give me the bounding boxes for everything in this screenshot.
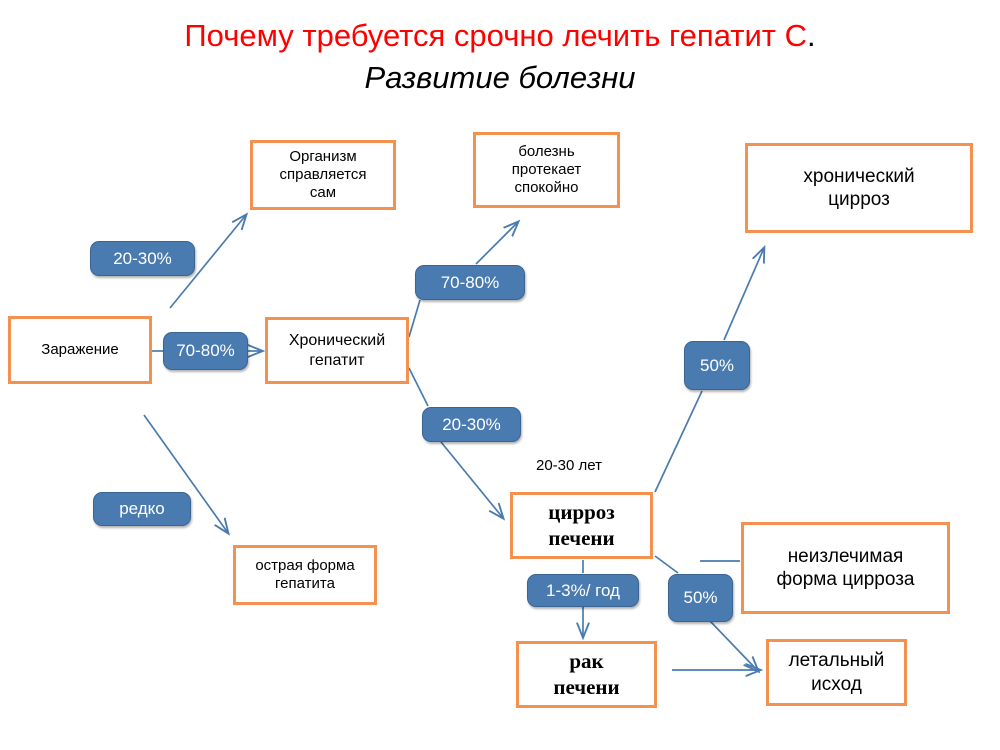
pill-20-30-percent-self-clear[interactable]: 20-30% (90, 241, 195, 276)
edge-liver-cirrhosis-to-pill-50 (655, 391, 702, 492)
node-acute-hepatitis-form-line-0: острая форма (236, 557, 374, 575)
node-chronic-hepatitis[interactable]: Хронический гепатит (265, 317, 409, 384)
node-self-clear[interactable]: Организм справляется сам (250, 140, 396, 210)
pill-1-3-percent-per-year[interactable]: 1-3%/ год (527, 574, 639, 607)
node-infection-line-0: Заражение (11, 341, 149, 359)
pill-20-30-percent-cirrhosis[interactable]: 20-30% (422, 407, 521, 442)
node-liver-cancer[interactable]: рак печени (516, 641, 657, 708)
node-liver-cirrhosis-line-1: печени (513, 526, 650, 552)
pill-50-percent-incurable[interactable]: 50% (668, 574, 733, 622)
node-lethal-outcome-line-0: летальный (769, 649, 904, 672)
edge-liver-cirrhosis-to-pill50-lower (655, 556, 678, 573)
node-infection[interactable]: Заражение (8, 316, 152, 384)
edge-pill50-to-chronic-cirrhosis (724, 248, 764, 340)
node-acute-hepatitis-form[interactable]: острая форма гепатита (233, 545, 377, 605)
pill-rarely[interactable]: редко (93, 492, 191, 526)
edge-chronic-hep-to-calm-course (409, 300, 420, 337)
node-acute-hepatitis-form-line-1: гепатита (236, 575, 374, 593)
edge-chronic-hep-to-pill-2030 (409, 368, 428, 406)
node-chronic-cirrhosis-line-0: хронический (748, 165, 970, 188)
node-incurable-cirrhosis-line-1: форма цирроза (744, 568, 947, 591)
node-liver-cirrhosis-line-0: цирроз (513, 500, 650, 526)
node-lethal-outcome-line-1: исход (769, 673, 904, 696)
node-calm-course-line-0: болезнь (476, 143, 617, 161)
node-self-clear-line-0: Организм (253, 148, 393, 166)
node-chronic-hepatitis-line-0: Хронический (268, 331, 406, 351)
annotation-20-30-years: 20-30 лет (536, 457, 602, 474)
pill-70-80-percent-chronic[interactable]: 70-80% (163, 332, 248, 370)
node-chronic-cirrhosis[interactable]: хронический цирроз (745, 143, 973, 233)
edge-pill50-lower-to-lethal (710, 621, 758, 671)
pill-50-percent-chronic-cirrhosis[interactable]: 50% (684, 341, 750, 390)
node-calm-course[interactable]: болезнь протекает спокойно (473, 132, 620, 208)
slide-canvas: Почему требуется срочно лечить гепатит С… (0, 0, 1000, 750)
node-chronic-cirrhosis-line-1: цирроз (748, 188, 970, 211)
node-incurable-cirrhosis-line-0: неизлечимая (744, 545, 947, 568)
edge-pill-to-calm-course (476, 222, 518, 264)
node-calm-course-line-1: протекает (476, 161, 617, 179)
pill-70-80-percent-calm[interactable]: 70-80% (415, 265, 525, 300)
node-liver-cirrhosis[interactable]: цирроз печени (510, 492, 653, 559)
node-liver-cancer-line-0: рак (519, 649, 654, 675)
node-lethal-outcome[interactable]: летальный исход (766, 639, 907, 706)
node-chronic-hepatitis-line-1: гепатит (268, 351, 406, 371)
node-self-clear-line-2: сам (253, 184, 393, 202)
edge-pill-to-liver-cirrhosis (441, 442, 503, 518)
node-calm-course-line-2: спокойно (476, 179, 617, 197)
node-self-clear-line-1: справляется (253, 166, 393, 184)
node-liver-cancer-line-1: печени (519, 675, 654, 701)
node-incurable-cirrhosis[interactable]: неизлечимая форма цирроза (741, 522, 950, 614)
